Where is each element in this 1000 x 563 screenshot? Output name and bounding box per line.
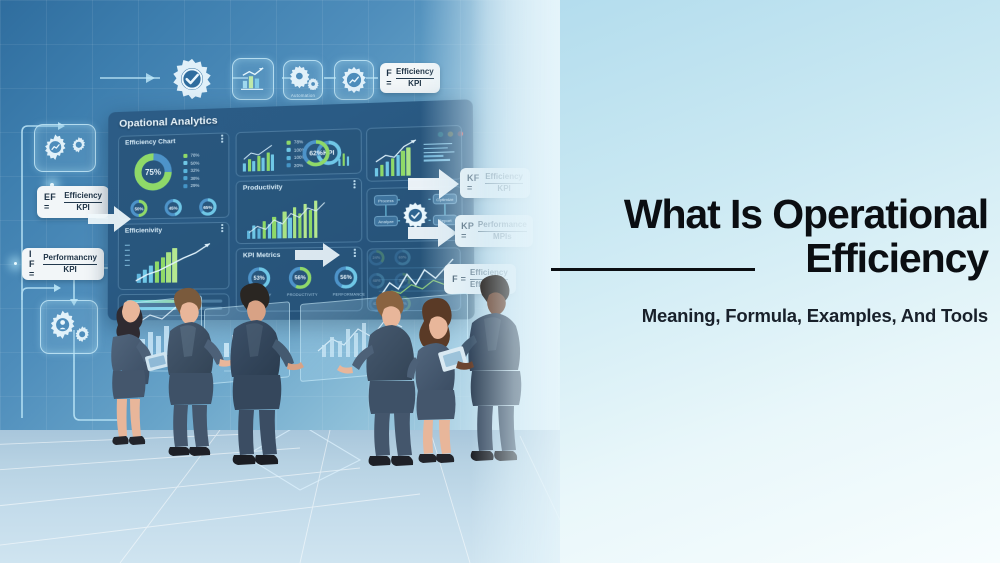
panel-productivity[interactable]: Productivity (236, 178, 363, 244)
bar-chart-icon (240, 67, 266, 91)
panel-efficiency-chart[interactable]: Efficiency Chart 75% 78% 50% 32% 38% 29% (118, 132, 230, 219)
efficiency-legend: 78% 50% 32% 38% 29% (183, 152, 199, 188)
legend-value: 78% (190, 152, 199, 157)
efficiency-donut: 75% (131, 149, 175, 194)
person-man-center (230, 283, 304, 465)
mini-gauge-value: 65% (198, 197, 218, 218)
panel-menu-icon[interactable] (222, 227, 224, 229)
efficiency-percent-gauge: 62% (300, 137, 332, 169)
efficiency-value: 75% (131, 149, 175, 194)
legend-value: 50% (190, 160, 199, 165)
illustration-area: Automation F = Efficiency KPI (0, 0, 560, 563)
legend-value: 38% (190, 176, 199, 181)
gear-check-icon (169, 56, 215, 102)
bar-chart-icon-card[interactable] (232, 58, 274, 100)
headline-divider (551, 268, 755, 271)
panel-title: Productivity (243, 184, 283, 192)
mini-vertical-bars (338, 147, 349, 166)
automation-gears-icon (289, 64, 319, 90)
panel-menu-icon[interactable] (222, 138, 224, 140)
gear-chart-icon-card[interactable] (34, 124, 96, 172)
banner-image: Automation F = Efficiency KPI (0, 0, 1000, 563)
panel-menu-icon[interactable] (354, 252, 356, 254)
efficiency-percent-value: 62% (300, 137, 332, 169)
formula-lhs: F = (386, 68, 392, 88)
person-woman-right (407, 298, 456, 463)
illustration-right-fade (470, 0, 560, 563)
arrow-right-large (88, 205, 132, 233)
legend-value: 32% (190, 168, 199, 173)
mini-gauge-value: 45% (163, 197, 183, 218)
automation-gears-icon-card[interactable]: Automation (283, 60, 323, 100)
headline-line-1: What Is Operational (548, 193, 988, 237)
person-woman-with-tablet (111, 300, 169, 445)
panel-title: Efficiency Chart (125, 138, 175, 147)
automation-icon-label: Automation (284, 93, 322, 98)
gear-chart-icon (43, 130, 87, 166)
mini-gauge: 45% (163, 197, 183, 218)
panel-menu-icon[interactable] (354, 183, 356, 185)
person-man-pointing-left (167, 288, 234, 456)
page-subtitle: Meaning, Formula, Examples, And Tools (500, 305, 988, 327)
headline-line-2: Efficiency (548, 237, 988, 281)
person-man-right-pointing (337, 291, 415, 466)
formula-numerator: Efficiency (64, 192, 102, 200)
formula-lhs: EF = (44, 192, 60, 212)
gear-analytics-icon (340, 66, 368, 94)
gear-analytics-icon-card[interactable] (334, 60, 374, 100)
mini-gauge: 65% (198, 197, 218, 218)
right-background-wash (520, 0, 1000, 563)
gear-check-icon-card[interactable] (166, 54, 218, 104)
dashboard-title: Opational Analytics (119, 114, 218, 129)
legend-value: 29% (190, 183, 199, 188)
